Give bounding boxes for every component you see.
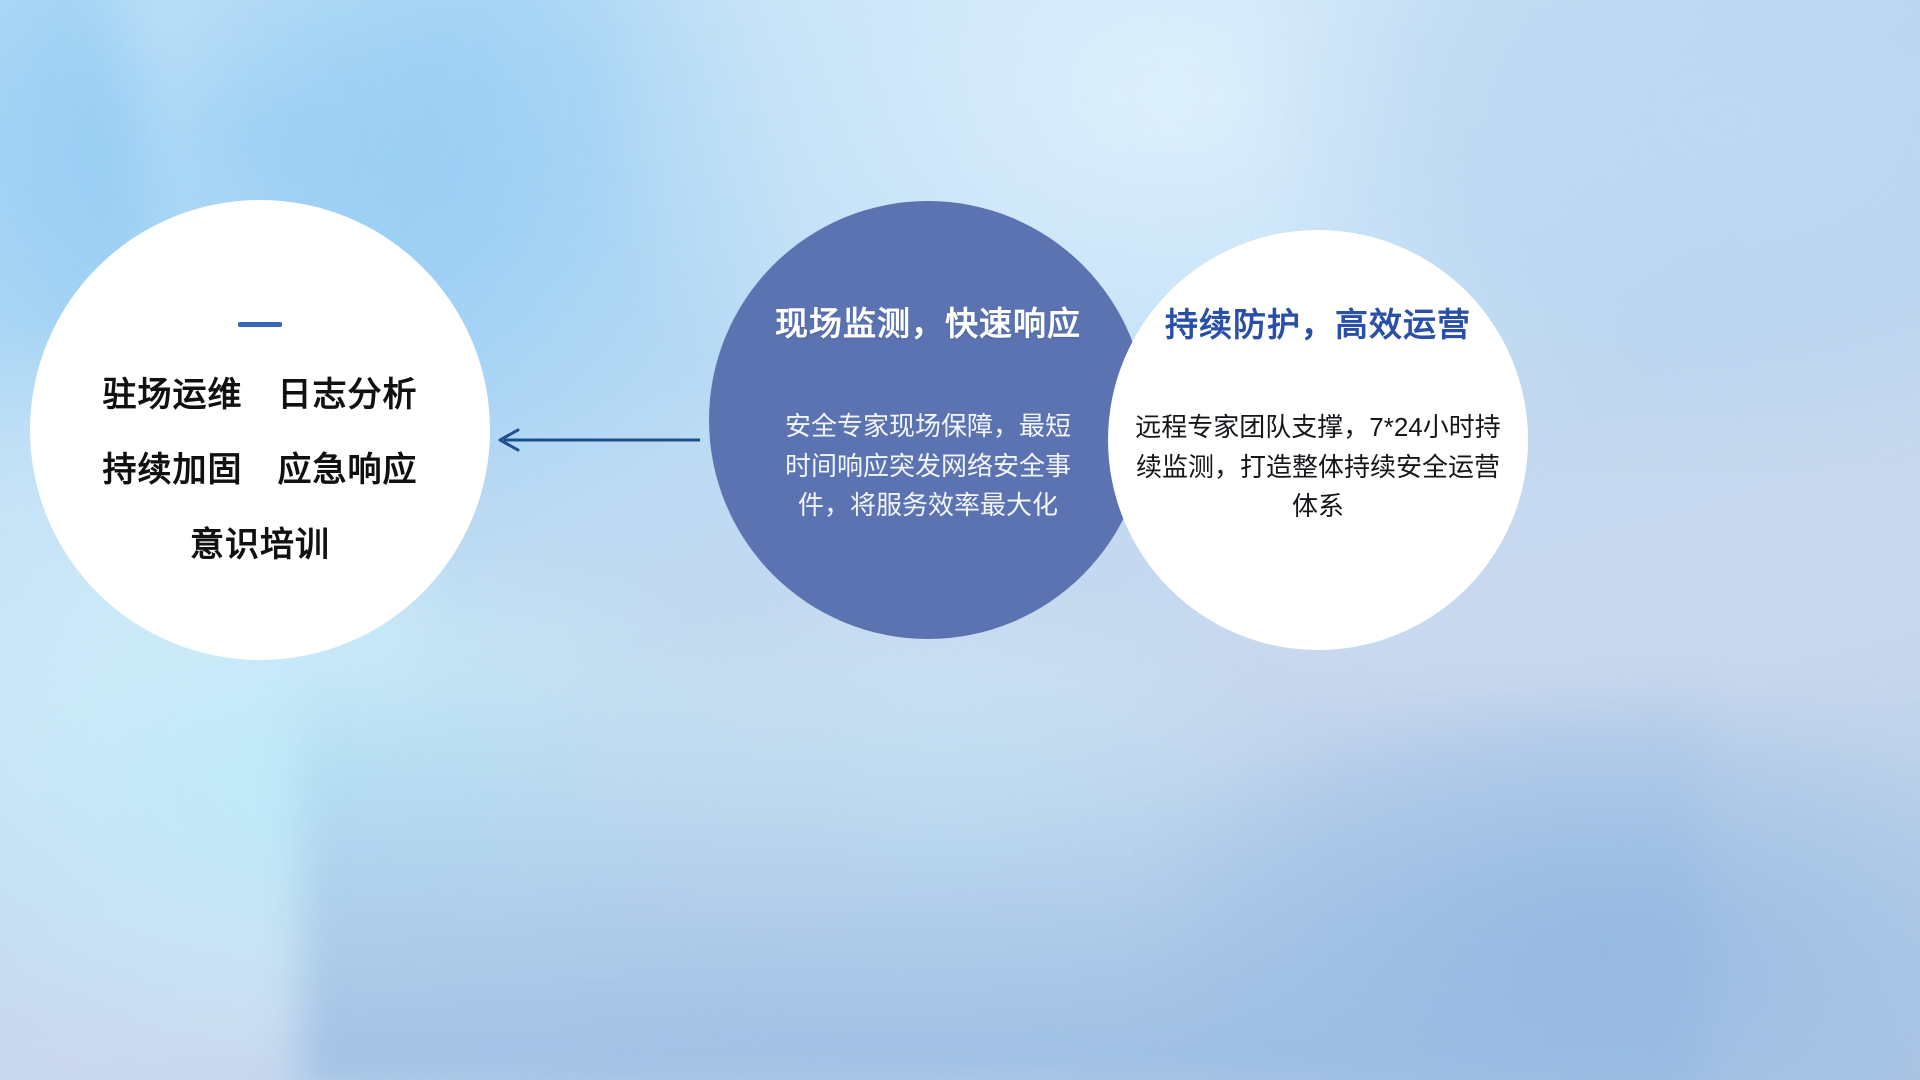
right-circle-shape[interactable] <box>1108 230 1528 650</box>
middle-circle-shape[interactable] <box>709 201 1147 639</box>
slide-canvas: 驻场运维 日志分析 持续加固 应急响应 意识培训 现场监测，快速响应 安全专家现… <box>0 0 1920 1080</box>
